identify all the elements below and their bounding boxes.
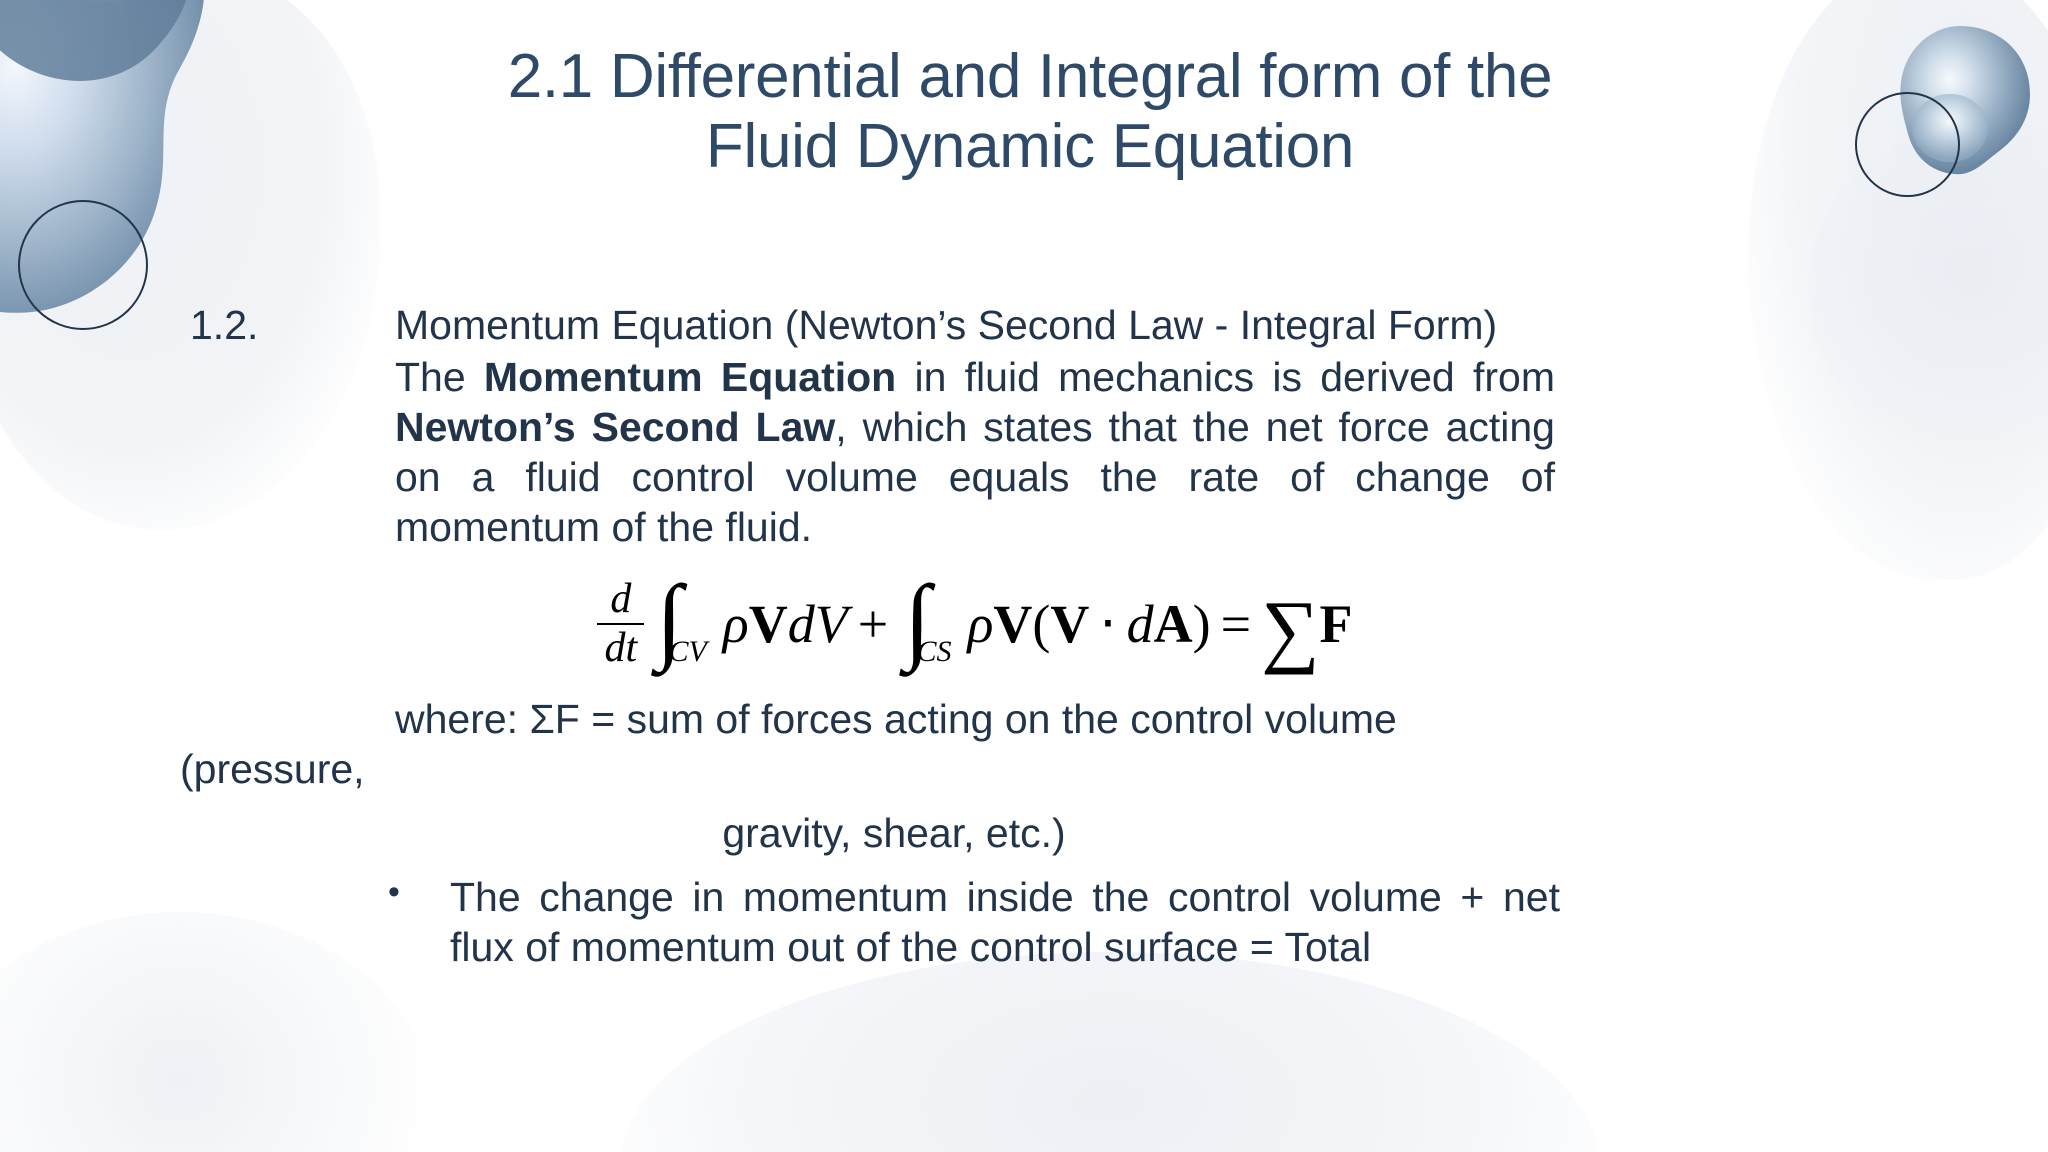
integral-cs: ∫ CS: [904, 586, 965, 661]
numbered-item: 1.2. Momentum Equation (Newton’s Second …: [0, 300, 2048, 552]
vector-f: F: [1320, 593, 1353, 655]
integral-cv: ∫ CV: [656, 586, 721, 661]
summation-symbol: ∑: [1261, 597, 1319, 663]
slide-title: 2.1 Differential and Integral form of th…: [250, 42, 1810, 182]
dot-product-operator: ⋅: [1089, 592, 1126, 655]
where-clause-line-3: gravity, shear, etc.): [0, 808, 2048, 858]
vector-v-1: V: [749, 593, 788, 655]
decorative-blob-top-right: [1888, 22, 2038, 182]
decorative-circle-top-right: [1855, 92, 1960, 197]
paragraph-bold-newtons-second-law: Newton’s Second Law: [395, 404, 835, 450]
open-paren: (: [1032, 593, 1050, 655]
vector-v-3: V: [1050, 593, 1089, 655]
paragraph-seg-2: in fluid mechanics is derived from: [896, 354, 1555, 400]
fraction-numerator: d: [603, 578, 638, 623]
differential-volume: dV: [788, 593, 848, 655]
close-paren: ): [1193, 593, 1211, 655]
equals-operator: =: [1211, 593, 1261, 655]
where-clause-line-1: where: ΣF = sum of forces acting on the …: [395, 694, 1555, 744]
slide-body: 1.2. Momentum Equation (Newton’s Second …: [0, 300, 2048, 972]
plus-operator: +: [848, 593, 898, 655]
paragraph-seg-1: The: [395, 354, 484, 400]
integral-subscript-cs: CS: [916, 635, 951, 669]
rho-symbol-2: ρ: [968, 593, 994, 655]
paragraph-bold-momentum-equation: Momentum Equation: [484, 354, 896, 400]
item-heading: Momentum Equation (Newton’s Second Law -…: [395, 300, 1555, 350]
fraction-denominator: dt: [597, 623, 644, 670]
item-number: 1.2.: [190, 300, 258, 350]
equation-row: d dt ∫ CV ρVdV + ∫ CS ρV(V⋅dA) = ∑F: [597, 578, 1352, 670]
item-paragraph: The Momentum Equation in fluid mechanics…: [395, 352, 1555, 552]
integral-subscript-cv: CV: [668, 635, 706, 669]
differential-d: d: [1127, 593, 1154, 655]
derivative-fraction: d dt: [597, 578, 644, 670]
where-clause-line-2: (pressure,: [180, 744, 2048, 794]
background-wash-bottom-center: [620, 952, 1600, 1152]
slide-canvas: 2.1 Differential and Integral form of th…: [0, 0, 2048, 1152]
bullet-text: The change in momentum inside the contro…: [450, 874, 1560, 970]
rho-symbol-1: ρ: [723, 593, 749, 655]
title-line-1: 2.1 Differential and Integral form of th…: [250, 42, 1810, 112]
title-line-2: Fluid Dynamic Equation: [250, 112, 1810, 182]
momentum-equation: d dt ∫ CV ρVdV + ∫ CS ρV(V⋅dA) = ∑F: [395, 578, 1555, 670]
vector-v-2: V: [993, 593, 1032, 655]
vector-a: A: [1154, 593, 1193, 655]
bullet-marker: •: [388, 872, 400, 913]
bullet-item: • The change in momentum inside the cont…: [450, 872, 1560, 972]
